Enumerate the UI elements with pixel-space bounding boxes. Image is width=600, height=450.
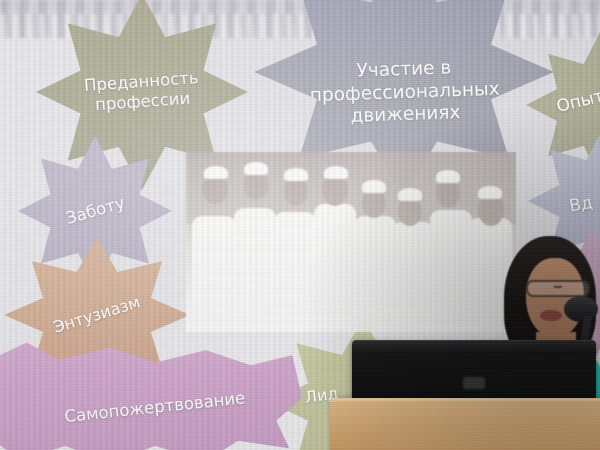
star-sacrifice-label: Самопожертвование <box>38 386 272 430</box>
photo-overexposure-wash <box>186 152 516 332</box>
star-enthusiasm-label: Энтузиазм <box>37 288 157 342</box>
star-experience-label: Опыт <box>543 83 600 120</box>
star-mercy-label: М <box>551 287 590 311</box>
star-inspiration-label: Вд <box>556 190 600 219</box>
star-devotion-label: Преданность профессии <box>35 65 249 120</box>
projection-screen: Участие в профессиональных движениях Пре… <box>0 0 600 450</box>
photo-scene: Участие в профессиональных движениях Пре… <box>0 0 600 450</box>
star-care-label: Заботу <box>51 190 138 233</box>
slide-center-photo <box>186 152 516 332</box>
